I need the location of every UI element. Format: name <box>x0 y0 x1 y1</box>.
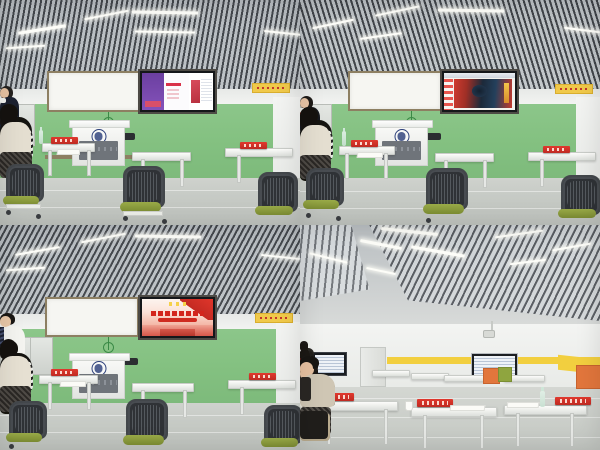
water-bottle <box>342 131 346 146</box>
whiteboard <box>47 71 141 112</box>
slide-content <box>142 73 213 110</box>
slide-stars <box>169 302 187 305</box>
wall-notice-sign <box>252 83 290 93</box>
slide-content <box>142 299 213 336</box>
cable-loop <box>103 342 114 353</box>
slide-content <box>444 73 515 110</box>
name-plate <box>417 399 453 407</box>
whiteboard <box>45 297 139 337</box>
photo-top-right[interactable] <box>300 0 600 225</box>
paper-cup <box>405 401 413 411</box>
photo-bottom-left[interactable] <box>0 225 300 450</box>
student-desk <box>225 148 293 157</box>
slide-panel-right <box>189 73 213 110</box>
equipment-cabinet <box>30 337 53 375</box>
chair-seat <box>261 438 298 447</box>
ceiling <box>300 225 600 338</box>
display-screen[interactable] <box>138 295 217 340</box>
student-desk <box>528 152 596 161</box>
photo-collage <box>0 0 600 450</box>
name-plate <box>51 369 78 376</box>
slide-title-text <box>151 311 205 316</box>
name-plate <box>543 146 570 153</box>
green-chair[interactable] <box>498 367 512 382</box>
wall-notice-sign <box>255 313 293 323</box>
whiteboard <box>348 71 442 111</box>
name-plate <box>240 142 267 149</box>
ceiling-projector <box>483 330 495 338</box>
side-wall <box>576 97 600 187</box>
display-screen[interactable] <box>138 69 217 114</box>
side-wall <box>276 322 300 412</box>
display-screen[interactable] <box>440 69 519 114</box>
paper-document <box>57 149 81 155</box>
editor-clip-panel <box>444 73 454 110</box>
student-desk <box>444 375 485 382</box>
photo-top-left[interactable] <box>0 0 300 225</box>
podium-top <box>69 353 129 362</box>
slide-subtitle-bar <box>158 318 198 322</box>
slide-skyline <box>142 325 213 336</box>
chair-seat <box>558 209 596 218</box>
orange-chair[interactable] <box>576 365 600 389</box>
chair-seat <box>423 204 464 214</box>
paper-document <box>357 152 384 158</box>
photo-bottom-right[interactable] <box>300 225 600 450</box>
slide-panel-middle <box>164 73 189 110</box>
podium-top <box>372 120 432 129</box>
chair-seat <box>6 433 42 442</box>
wall-notice-sign <box>555 84 593 94</box>
name-plate <box>249 373 276 380</box>
slide-panel-left <box>142 73 164 110</box>
chair-seat <box>303 200 339 209</box>
student-desk <box>228 380 296 389</box>
water-bottle <box>540 391 545 407</box>
chair-seat <box>255 206 293 215</box>
editor-toolbar <box>444 73 515 78</box>
paper-document <box>60 381 87 387</box>
name-plate <box>351 140 378 147</box>
podium[interactable] <box>375 122 428 166</box>
name-plate <box>51 137 78 144</box>
podium-top <box>69 120 129 129</box>
paper-document <box>450 405 486 411</box>
video-preview <box>454 79 512 108</box>
water-bottle <box>39 130 43 144</box>
student-desk <box>372 370 410 377</box>
name-plate <box>555 397 591 405</box>
paper-document <box>507 402 540 408</box>
chair-seat <box>123 435 164 445</box>
door[interactable] <box>360 347 386 387</box>
